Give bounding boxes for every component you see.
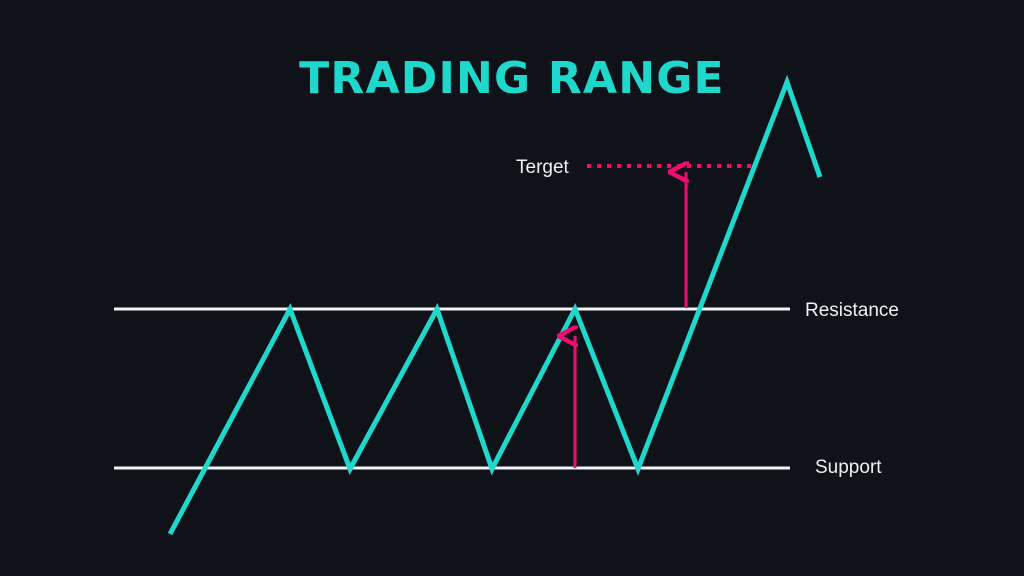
target-label: Terget: [516, 157, 569, 179]
trading-range-diagram: TRADING RANGE Terget Resistance Support: [0, 0, 1024, 576]
resistance-label: Resistance: [805, 300, 899, 322]
support-label: Support: [815, 457, 882, 479]
chart-canvas: [0, 0, 1024, 576]
